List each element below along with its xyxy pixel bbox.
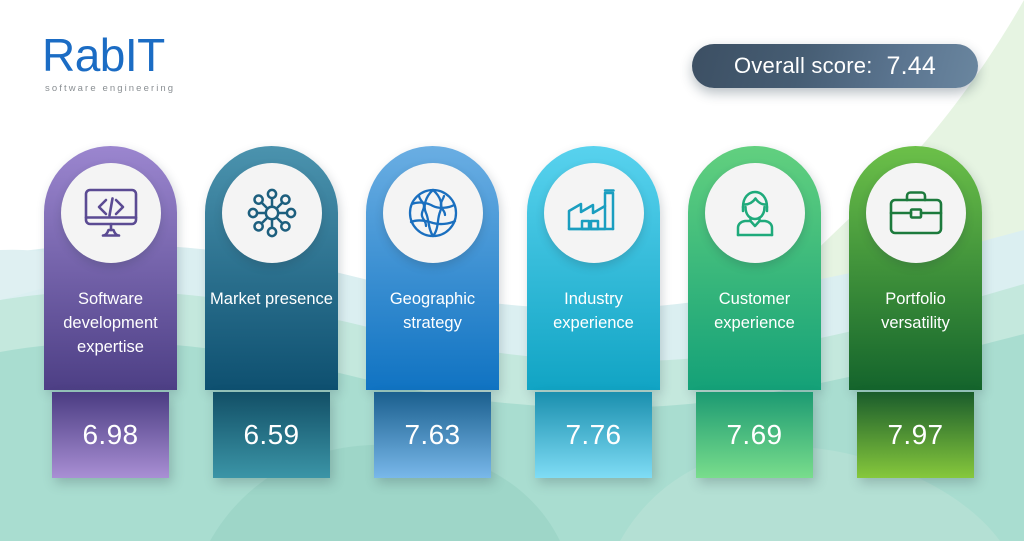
pillar-label: Industry experience — [527, 288, 660, 336]
pillar-group: Geographic strategy7.63 — [366, 146, 499, 478]
pillar-label: Portfolio versatility — [849, 288, 982, 336]
pillar-group: Customer experience7.69 — [688, 146, 821, 478]
score-panel: 7.97 — [857, 392, 974, 478]
pillar-column[interactable]: Customer experience — [688, 146, 821, 390]
score-panel: 6.98 — [52, 392, 169, 478]
score-value: 7.97 — [887, 419, 943, 451]
globe-icon — [383, 163, 483, 263]
pillar-group: Portfolio versatility7.97 — [849, 146, 982, 478]
pillar-column[interactable]: Market presence — [205, 146, 338, 390]
score-panel: 6.59 — [213, 392, 330, 478]
pillar-group: Market presence6.59 — [205, 146, 338, 478]
score-value: 7.76 — [565, 419, 621, 451]
pillar-group: Industry experience7.76 — [527, 146, 660, 478]
pillar-row: Software development expertise6.98Market… — [0, 0, 1024, 541]
score-value: 7.69 — [726, 419, 782, 451]
code-monitor-icon — [61, 163, 161, 263]
network-hub-icon — [222, 163, 322, 263]
score-panel: 7.76 — [535, 392, 652, 478]
pillar-column[interactable]: Geographic strategy — [366, 146, 499, 390]
pillar-column[interactable]: Software development expertise — [44, 146, 177, 390]
score-value: 6.98 — [82, 419, 138, 451]
briefcase-icon — [866, 163, 966, 263]
infographic-canvas: RabIT software engineering Overall score… — [0, 0, 1024, 541]
pillar-column[interactable]: Portfolio versatility — [849, 146, 982, 390]
score-value: 7.63 — [404, 419, 460, 451]
pillar-label: Market presence — [205, 288, 338, 312]
score-value: 6.59 — [243, 419, 299, 451]
score-panel: 7.63 — [374, 392, 491, 478]
pillar-column[interactable]: Industry experience — [527, 146, 660, 390]
pillar-label: Customer experience — [688, 288, 821, 336]
score-panel: 7.69 — [696, 392, 813, 478]
pillar-group: Software development expertise6.98 — [44, 146, 177, 478]
pillar-label: Geographic strategy — [366, 288, 499, 336]
pillar-label: Software development expertise — [44, 288, 177, 360]
factory-icon — [544, 163, 644, 263]
support-person-icon — [705, 163, 805, 263]
